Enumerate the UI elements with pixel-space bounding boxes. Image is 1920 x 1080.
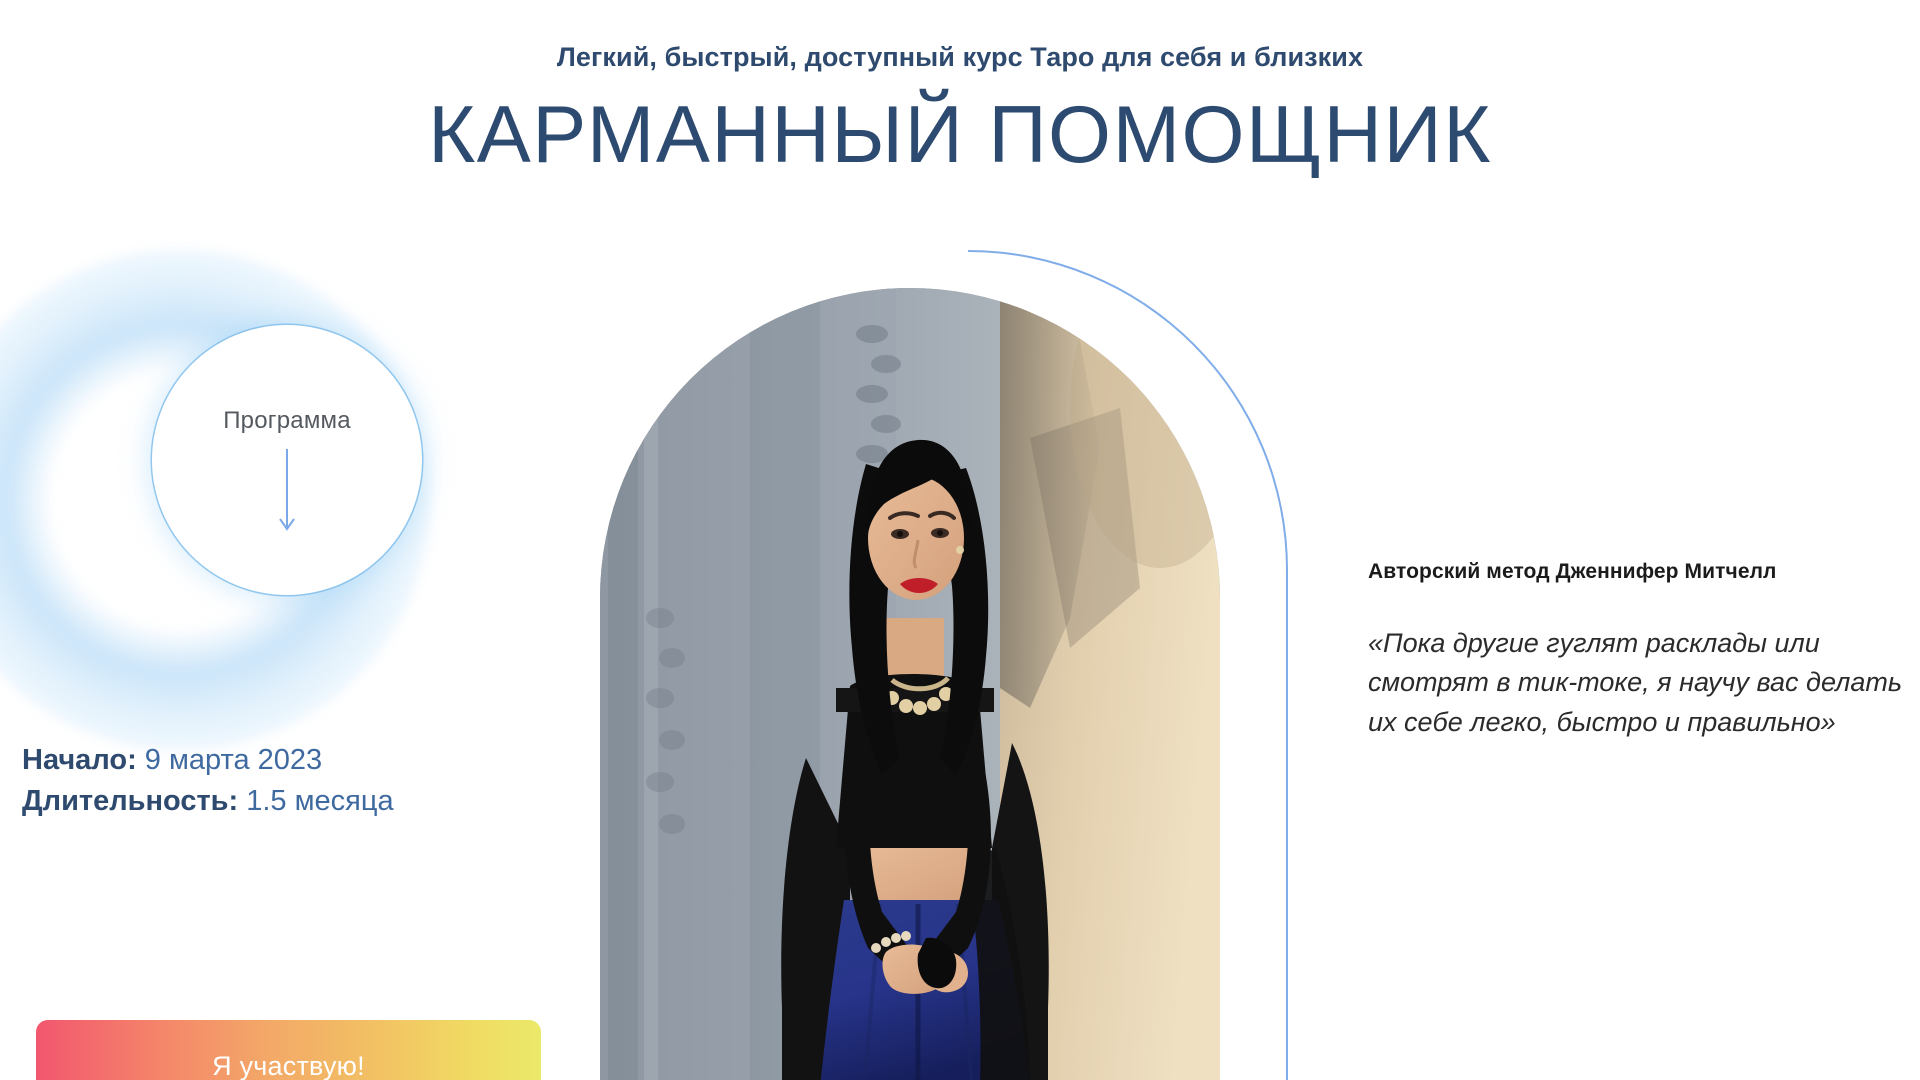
left-column: Программа Начало: 9 марта 2023 Длительно… (0, 250, 560, 1080)
page-subtitle: Легкий, быстрый, доступный курс Таро для… (0, 42, 1920, 73)
instructor-photo (600, 288, 1220, 1080)
author-quote: «Пока другие гуглят расклады или смотрят… (1368, 624, 1888, 742)
author-method-line: Авторский метод Дженнифер Митчелл (1368, 560, 1888, 584)
duration-label: Длительность: (22, 785, 238, 817)
start-date-label: Начало: (22, 744, 137, 776)
page-title: КАРМАННЫЙ ПОМОЩНИК (0, 95, 1920, 176)
duration-value: 1.5 месяца (238, 785, 393, 817)
hero-photo-zone (600, 250, 1300, 1080)
arrow-down-icon (276, 449, 298, 535)
program-label: Программа (223, 407, 351, 435)
start-date-value: 9 марта 2023 (137, 744, 322, 776)
landing-page: Легкий, быстрый, доступный курс Таро для… (0, 0, 1920, 1080)
author-column: Авторский метод Дженнифер Митчелл «Пока … (1368, 560, 1888, 742)
duration-line: Длительность: 1.5 месяца (22, 781, 394, 822)
page-header: Легкий, быстрый, доступный курс Таро для… (0, 0, 1920, 176)
start-date-line: Начало: 9 марта 2023 (22, 740, 394, 781)
participate-button[interactable]: Я участвую! (36, 1020, 541, 1080)
quote-line-2: смотрят в тик-токе, я научу вас делать (1368, 663, 1888, 702)
quote-line-1: «Пока другие гуглят расклады или (1368, 624, 1888, 663)
course-info: Начало: 9 марта 2023 Длительность: 1.5 м… (22, 740, 394, 822)
program-circle-button[interactable]: Программа (152, 325, 422, 595)
quote-line-3: их себе легко, быстро и правильно» (1368, 703, 1888, 742)
